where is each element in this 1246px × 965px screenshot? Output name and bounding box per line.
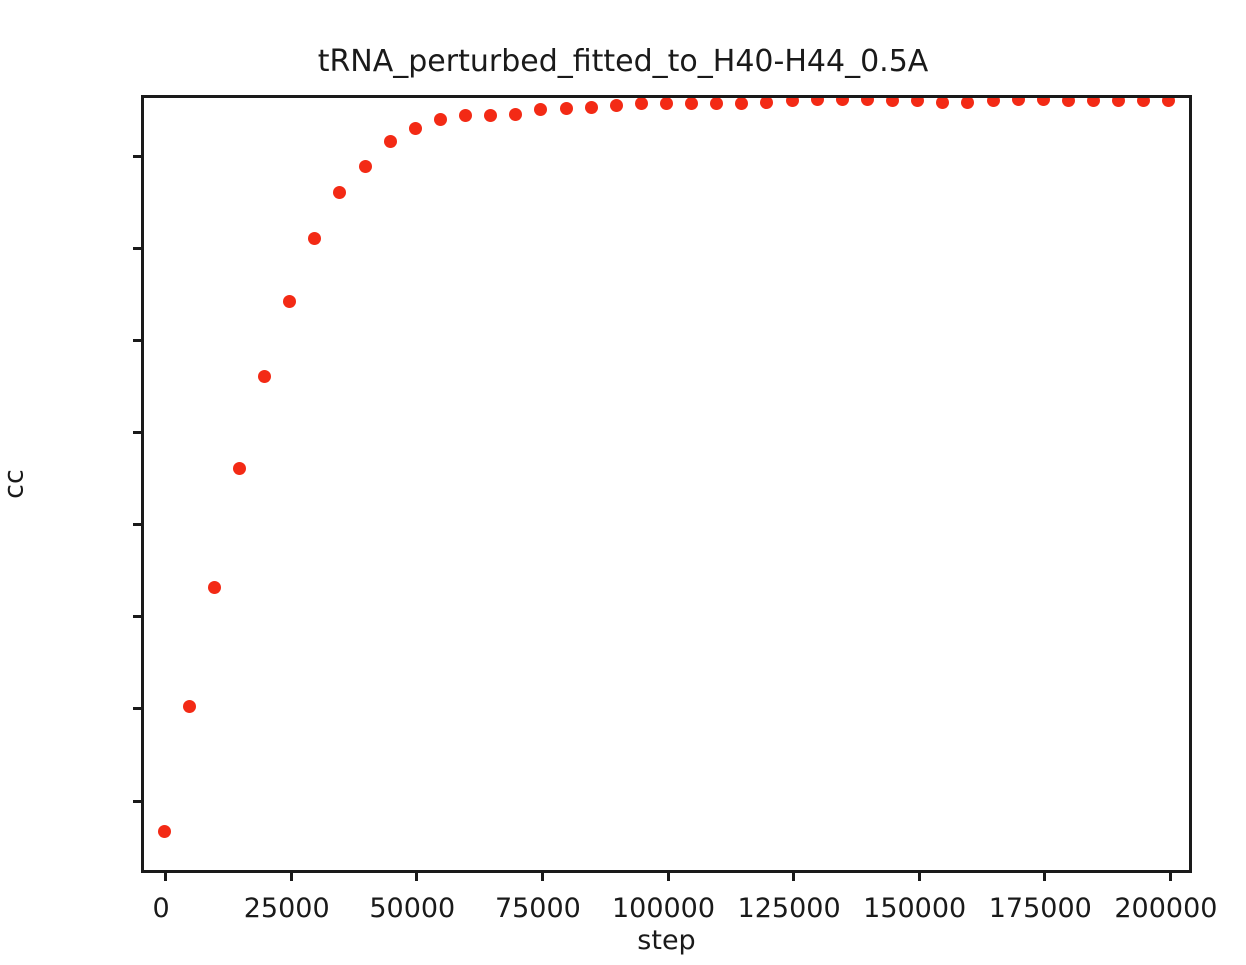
data-point-marker <box>434 113 447 126</box>
x-axis-tick-label: 50000 <box>369 893 455 924</box>
data-point-marker <box>359 160 372 173</box>
data-point-marker <box>1062 98 1075 107</box>
data-point-marker <box>861 98 874 106</box>
data-point-marker <box>911 98 924 107</box>
data-point-marker <box>258 370 271 383</box>
data-point-marker <box>484 109 497 122</box>
y-axis-tick-mark <box>133 800 144 803</box>
data-point-marker <box>987 98 1000 107</box>
data-point-marker <box>610 99 623 112</box>
y-axis-tick-mark <box>133 155 144 158</box>
x-axis-tick-mark <box>792 870 795 881</box>
data-point-marker <box>283 295 296 308</box>
data-point-marker <box>409 122 422 135</box>
data-point-marker <box>886 98 899 107</box>
x-axis-tick-label: 200000 <box>1114 893 1217 924</box>
data-point-marker <box>786 98 799 107</box>
data-point-marker <box>459 109 472 122</box>
x-axis-tick-label: 0 <box>153 893 170 924</box>
data-point-marker <box>333 186 346 199</box>
x-axis-tick-label: 125000 <box>738 893 841 924</box>
data-point-marker <box>308 232 321 245</box>
data-point-marker <box>233 462 246 475</box>
data-point-marker <box>1162 98 1175 107</box>
data-point-marker <box>560 102 573 115</box>
data-point-marker <box>735 98 748 110</box>
x-axis-tick-mark <box>667 870 670 881</box>
data-point-marker <box>585 101 598 114</box>
x-axis-tick-mark <box>541 870 544 881</box>
data-point-marker <box>1012 98 1025 106</box>
x-axis-tick-mark <box>1043 870 1046 881</box>
x-axis-tick-label: 150000 <box>863 893 966 924</box>
x-axis-tick-mark <box>415 870 418 881</box>
data-point-marker <box>836 98 849 106</box>
data-point-marker <box>660 98 673 110</box>
scatter-plot-canvas <box>144 98 1189 870</box>
data-point-marker <box>534 103 547 116</box>
y-axis-tick-mark <box>133 339 144 342</box>
data-point-marker <box>1087 98 1100 107</box>
y-axis-label: cc <box>0 469 30 499</box>
data-point-marker <box>961 98 974 109</box>
chart-title: tRNA_perturbed_fitted_to_H40-H44_0.5A <box>0 44 1246 79</box>
y-axis-tick-mark <box>133 707 144 710</box>
x-axis-tick-label: 100000 <box>612 893 715 924</box>
y-axis-tick-mark <box>133 523 144 526</box>
x-axis-tick-label: 75000 <box>495 893 581 924</box>
data-point-marker <box>685 98 698 110</box>
data-point-marker <box>183 700 196 713</box>
data-point-marker <box>1137 98 1150 107</box>
data-point-marker <box>158 825 171 838</box>
y-axis-tick-mark <box>133 247 144 250</box>
chart-figure: tRNA_perturbed_fitted_to_H40-H44_0.5A cc… <box>0 0 1246 965</box>
x-axis-tick-label: 175000 <box>989 893 1092 924</box>
x-axis-tick-mark <box>164 870 167 881</box>
data-point-marker <box>936 98 949 109</box>
data-point-marker <box>760 98 773 109</box>
data-point-marker <box>710 98 723 110</box>
x-axis-tick-mark <box>290 870 293 881</box>
y-axis-tick-mark <box>133 431 144 434</box>
y-axis-tick-mark <box>133 615 144 618</box>
data-point-marker <box>384 135 397 148</box>
data-point-marker <box>509 108 522 121</box>
data-point-marker <box>1037 98 1050 106</box>
data-point-marker <box>811 98 824 106</box>
x-axis-tick-mark <box>918 870 921 881</box>
plot-area <box>141 95 1192 873</box>
data-point-marker <box>208 581 221 594</box>
x-axis-tick-mark <box>1169 870 1172 881</box>
data-point-marker <box>635 98 648 110</box>
data-point-marker <box>1112 98 1125 107</box>
x-axis-label: step <box>141 925 1192 956</box>
x-axis-tick-label: 25000 <box>244 893 330 924</box>
